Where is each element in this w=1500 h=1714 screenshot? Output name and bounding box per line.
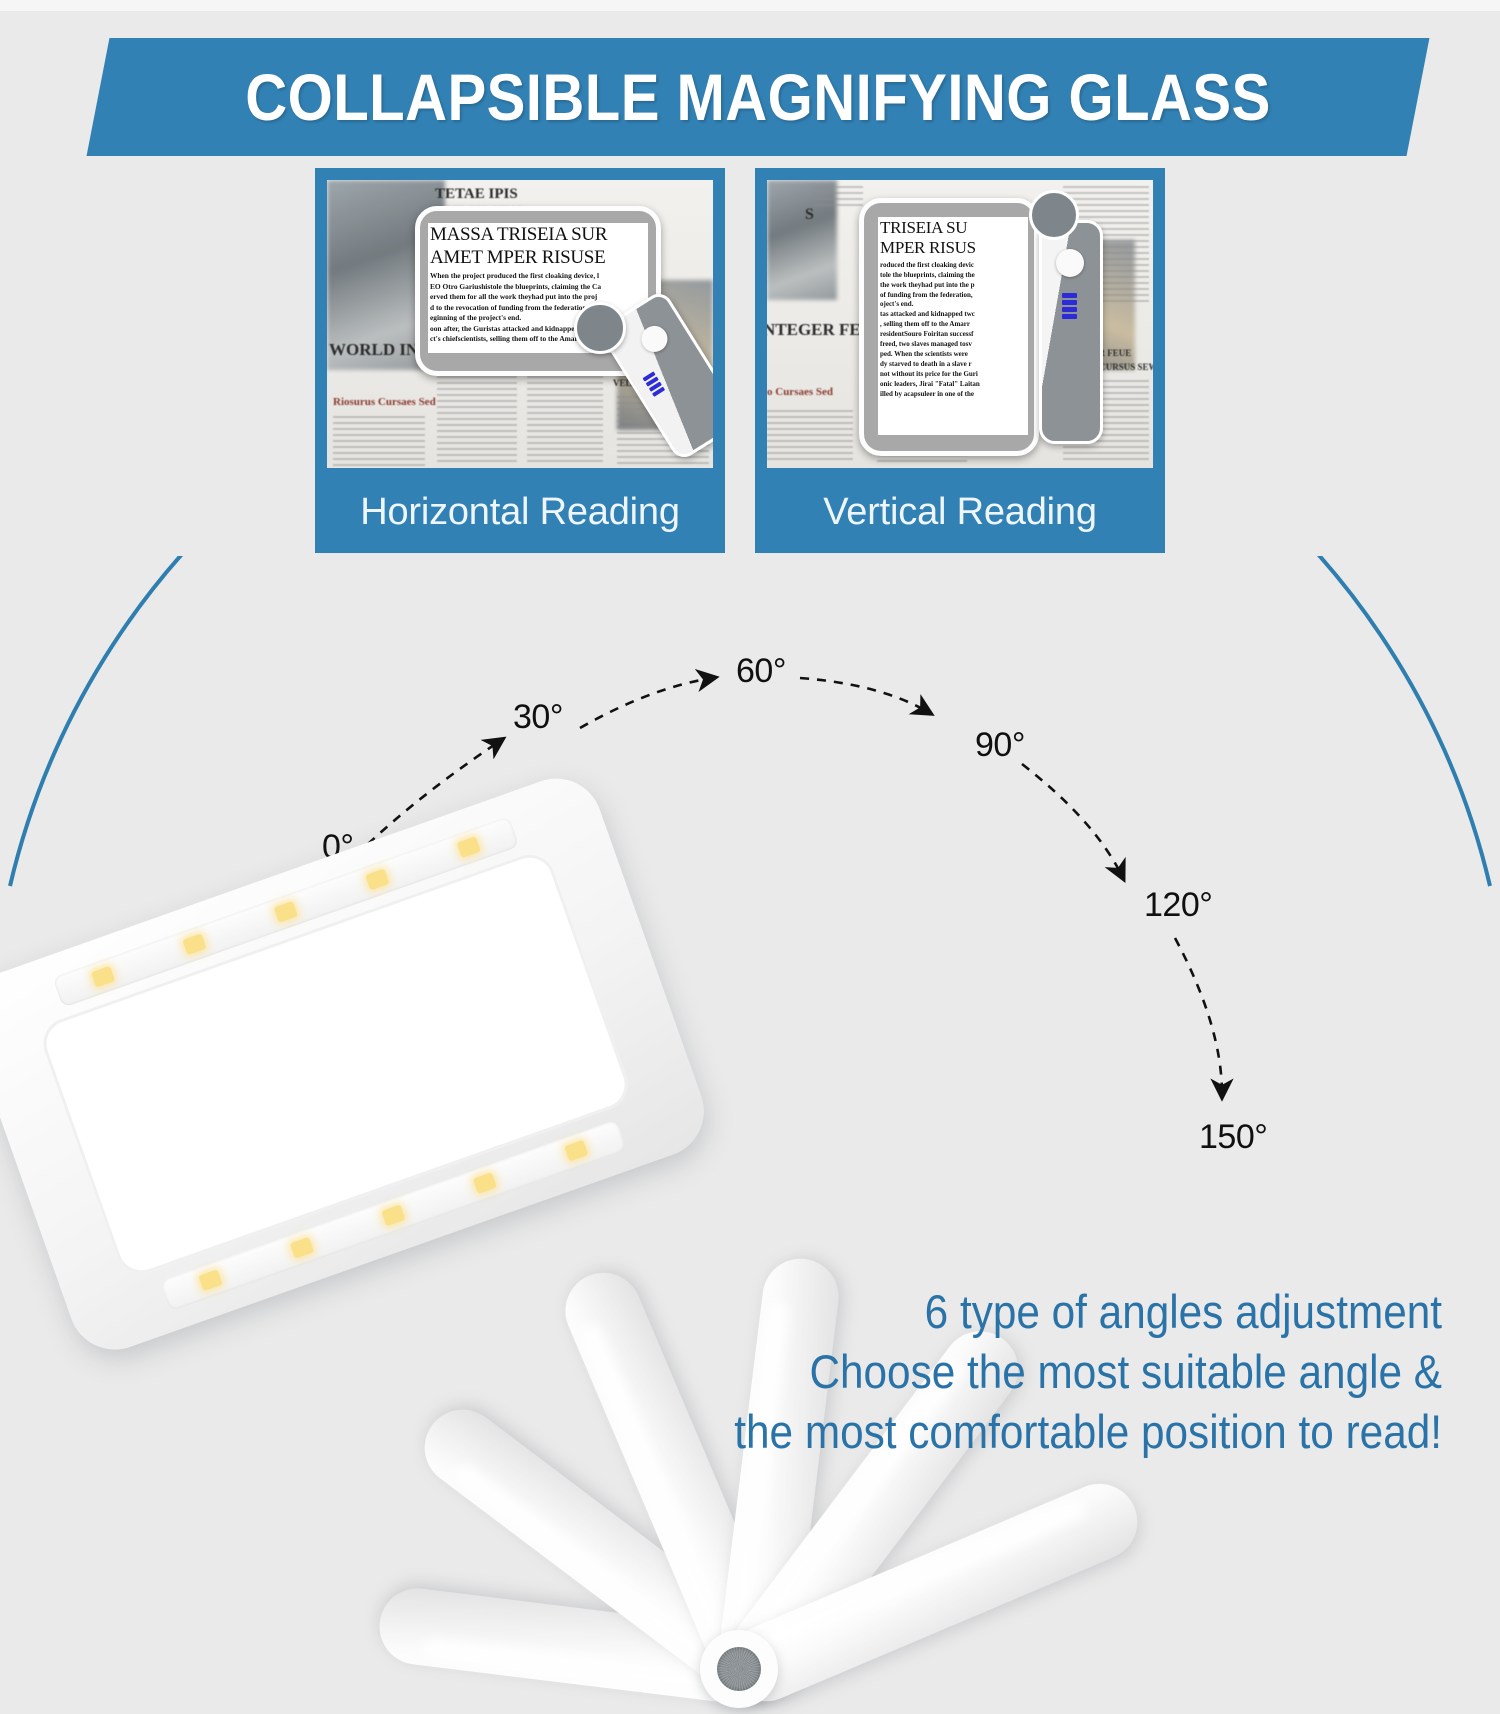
header-banner: COLLAPSIBLE MAGNIFYING GLASS	[0, 38, 1500, 156]
hinge-disc-icon	[717, 1647, 761, 1691]
battery-indicator	[642, 371, 665, 397]
device-hinge-horizontal	[574, 302, 626, 354]
led-light	[456, 836, 480, 858]
photo-horizontal: TETAE IPIS CURSU SINS WORLD IN R SAT REA…	[327, 180, 713, 468]
panel-label-horizontal: Horizontal Reading	[315, 471, 725, 553]
newspaper-headline: S	[805, 206, 814, 224]
magnified-body-line: illed by acapsuleer in one of the	[880, 390, 1028, 400]
angle-label-90: 90°	[975, 726, 1025, 765]
led-light	[274, 901, 298, 923]
caption-line-1: 6 type of angles adjustment	[668, 1282, 1442, 1342]
magnified-headline-1: TRISEIA SU	[880, 219, 1028, 237]
power-button-icon[interactable]	[1056, 249, 1084, 277]
magnified-body-line: of funding from the federation,	[880, 291, 1028, 301]
magnified-body-line: not without its price for the Guri	[880, 370, 1028, 380]
battery-indicator	[1062, 293, 1077, 319]
news-column	[333, 416, 425, 466]
led-light	[290, 1237, 314, 1259]
newspaper-headline: TETAE IPIS	[435, 186, 518, 203]
magnifier-lens-vertical: TRISEIA SU MPER RISUS roduced the first …	[859, 198, 1039, 456]
magnified-body-line: When the project produced the first cloa…	[430, 271, 648, 282]
newspaper-headline: NTEGER FEU	[767, 320, 873, 340]
page-title: COLLAPSIBLE MAGNIFYING GLASS	[177, 38, 1339, 156]
magnified-body-line: dy starved to death in a slave r	[880, 360, 1028, 370]
news-column	[767, 410, 853, 464]
feature-panels: TETAE IPIS CURSU SINS WORLD IN R SAT REA…	[0, 168, 1500, 556]
panel-vertical-reading[interactable]: S NTEGER FEU NTEGER FEUE VELAS CURSUS SE…	[755, 168, 1165, 553]
magnified-headline-2: MPER RISUS	[880, 239, 1028, 257]
panel-label-vertical: Vertical Reading	[755, 471, 1165, 553]
led-light	[183, 933, 207, 955]
magnified-body-line: freed, two slaves managed tosv	[880, 340, 1028, 350]
magnified-headline-2: AMET MPER RISUSE	[430, 248, 648, 269]
newspaper-red-headline: o Cursaes Sed	[767, 386, 833, 398]
panel-horizontal-reading[interactable]: TETAE IPIS CURSU SINS WORLD IN R SAT REA…	[315, 168, 725, 553]
top-strip	[0, 0, 1500, 11]
magnified-body-line: ped. When the scientists were	[880, 350, 1028, 360]
angle-label-120: 120°	[1144, 886, 1212, 925]
power-button-icon[interactable]	[637, 321, 673, 357]
led-light	[381, 1205, 405, 1227]
caption-line-2: Choose the most suitable angle &	[668, 1342, 1442, 1402]
magnified-body-line: erved them for all the work theyhad put …	[430, 292, 648, 303]
photo-vertical: S NTEGER FEU NTEGER FEUE VELAS CURSUS SE…	[767, 180, 1153, 468]
pivot-hinge[interactable]	[700, 1630, 778, 1708]
angle-label-30: 30°	[513, 698, 563, 737]
magnified-body-line: tas attacked and kidnapped twc	[880, 310, 1028, 320]
magnified-body-line: EO Otro Gariushistole the blueprints, cl…	[430, 282, 648, 293]
device-hinge-vertical	[1029, 190, 1079, 240]
news-column	[527, 370, 603, 466]
caption-line-3: the most comfortable position to read!	[668, 1402, 1442, 1462]
magnified-body-line: roduced the first cloaking devic	[880, 261, 1028, 271]
magnified-body-line: tole the blueprints, claiming the	[880, 271, 1028, 281]
magnified-body-line: residentSouro Foiritan successf	[880, 330, 1028, 340]
angle-label-150: 150°	[1199, 1118, 1267, 1157]
magnified-text-sheet: TRISEIA SU MPER RISUS roduced the first …	[878, 217, 1028, 435]
caption-block: 6 type of angles adjustment Choose the m…	[668, 1282, 1442, 1462]
magnified-body-line: the work theyhad put into the p	[880, 281, 1028, 291]
magnified-body-line: oject's end.	[880, 300, 1028, 310]
newspaper-red-headline: Riosurus Cursaes Sed	[333, 396, 436, 408]
newspaper-headline: WORLD IN	[329, 340, 418, 360]
led-light	[91, 966, 115, 988]
magnified-body-line: onic leaders, Jirai "Fatal" Laitan	[880, 380, 1028, 390]
led-light	[564, 1140, 588, 1162]
angle-label-60: 60°	[736, 652, 786, 691]
led-light	[199, 1269, 223, 1291]
magnified-headline-1: MASSA TRISEIA SUR	[430, 225, 648, 246]
led-light	[365, 869, 389, 891]
news-column	[813, 186, 863, 206]
magnified-body-line: , selling them off to the Amarr	[880, 320, 1028, 330]
led-light	[473, 1172, 497, 1194]
news-column	[437, 370, 517, 466]
device-handle-vertical	[1039, 220, 1103, 444]
